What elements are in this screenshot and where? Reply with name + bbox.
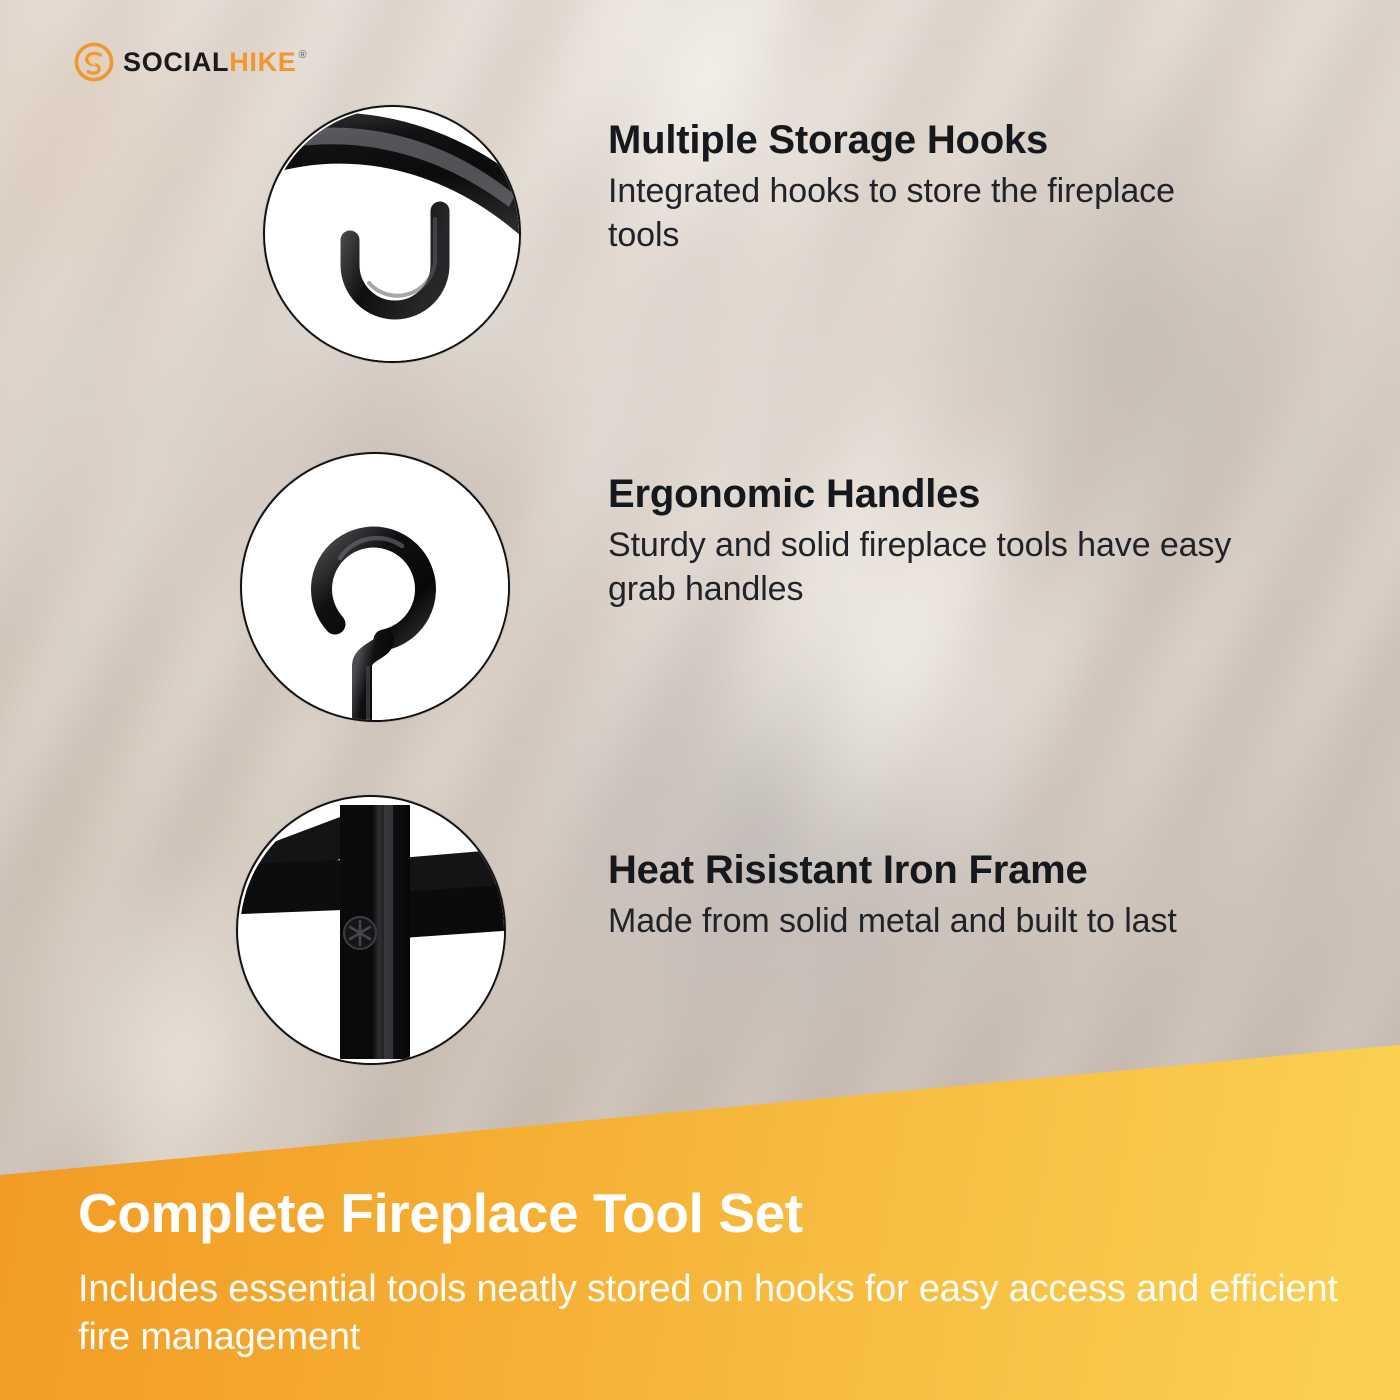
feature-1-title: Multiple Storage Hooks [608, 118, 1228, 163]
socialhike-spiral-logo-icon [74, 42, 114, 82]
iron-frame-joint-icon [238, 797, 506, 1065]
banner-subtitle: Includes essential tools neatly stored o… [78, 1265, 1358, 1362]
feature-1-image [263, 105, 521, 363]
brand-wordmark: SOCIALHIKE® [123, 49, 307, 76]
j-hook-on-bar-icon [265, 107, 521, 363]
feature-2-description: Sturdy and solid fireplace tools have ea… [608, 523, 1288, 611]
feature-3-description: Made from solid metal and built to last [608, 899, 1248, 943]
feature-3-text: Heat Risistant Iron Frame Made from soli… [608, 848, 1248, 943]
feature-item-1 [263, 105, 521, 363]
feature-1-description: Integrated hooks to store the fireplace … [608, 169, 1228, 257]
feature-item-3 [236, 795, 506, 1065]
feature-2-text: Ergonomic Handles Sturdy and solid firep… [608, 472, 1288, 611]
loop-handle-hook-icon [242, 454, 510, 722]
banner-title: Complete Fireplace Tool Set [78, 1185, 1358, 1243]
brand-name-second: HIKE [229, 49, 296, 76]
feature-item-2 [240, 452, 510, 722]
feature-3-image [236, 795, 506, 1065]
feature-1-text: Multiple Storage Hooks Integrated hooks … [608, 118, 1228, 257]
registered-trademark-symbol: ® [299, 50, 308, 61]
brand-logo[interactable]: SOCIALHIKE® [74, 42, 307, 82]
feature-2-image [240, 452, 510, 722]
brand-name-first: SOCIAL [123, 49, 229, 76]
feature-3-title: Heat Risistant Iron Frame [608, 848, 1248, 893]
bottom-banner-content: Complete Fireplace Tool Set Includes ess… [78, 1185, 1358, 1362]
feature-2-title: Ergonomic Handles [608, 472, 1288, 517]
infographic-canvas: SOCIALHIKE® [0, 0, 1400, 1400]
